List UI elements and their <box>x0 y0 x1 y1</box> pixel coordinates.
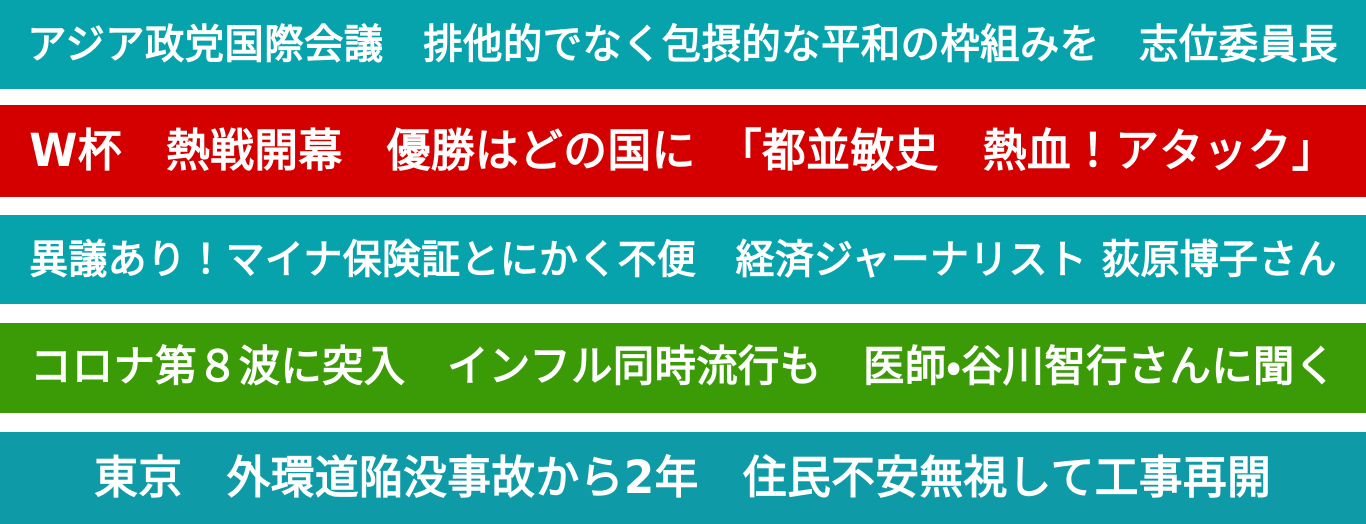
headline-banner-2[interactable]: W杯 熱戦開幕 優勝はどの国に 「都並敏史 熱血！アタック」 <box>0 105 1366 197</box>
headline-text-3: 異議あり！マイナ保険証とにかく不便 経済ジャーナリスト 荻原博子さん <box>29 239 1337 281</box>
headline-banner-3[interactable]: 異議あり！マイナ保険証とにかく不便 経済ジャーナリスト 荻原博子さん <box>0 215 1366 304</box>
headline-text-4: コロナ第８波に突入 インフル同時流行も 医師・谷川智行さんに聞く <box>30 346 1336 391</box>
headline-banner-1[interactable]: アジア政党国際会議 排他的でなく包摂的な平和の枠組みを 志位委員長 <box>0 0 1366 89</box>
headline-text-1: アジア政党国際会議 排他的でなく包摂的な平和の枠組みを 志位委員長 <box>28 23 1339 66</box>
headline-banner-4[interactable]: コロナ第８波に突入 インフル同時流行も 医師・谷川智行さんに聞く <box>0 323 1366 413</box>
banner-stack: アジア政党国際会議 排他的でなく包摂的な平和の枠組みを 志位委員長 W杯 熱戦開… <box>0 0 1366 524</box>
headline-banner-5[interactable]: 東京 外環道陥没事故から2年 住民不安無視して工事再開 <box>0 432 1366 524</box>
headline-text-5: 東京 外環道陥没事故から2年 住民不安無視して工事再開 <box>94 454 1271 501</box>
headline-text-2: W杯 熱戦開幕 優勝はどの国に 「都並敏史 熱血！アタック」 <box>30 127 1337 174</box>
